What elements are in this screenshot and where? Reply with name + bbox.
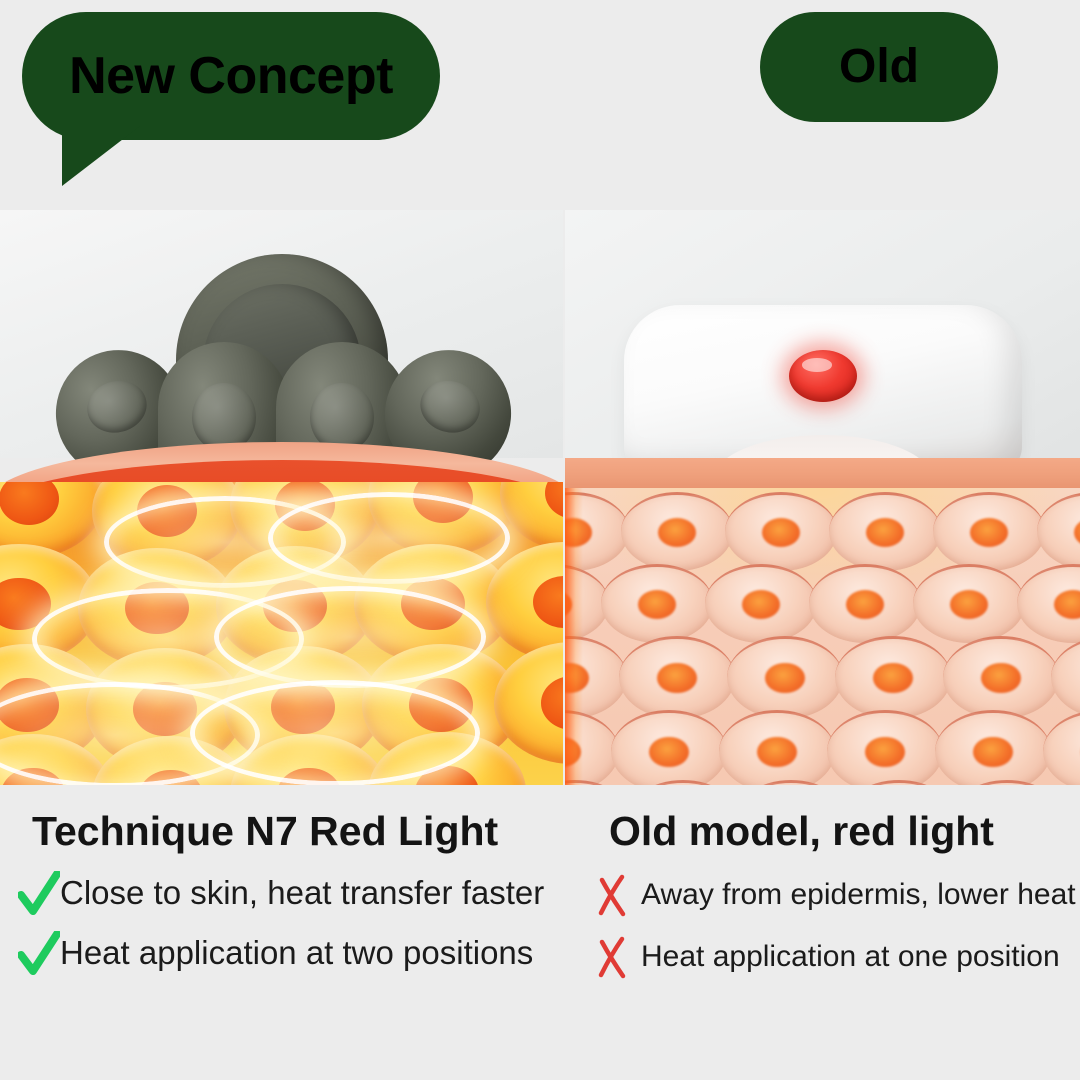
dermis-cells-right xyxy=(565,488,1080,785)
column-old-model: Old model, red light Away from epidermis… xyxy=(565,785,1080,979)
skin-cell xyxy=(913,564,1025,643)
skin-cell xyxy=(809,564,921,643)
check-icon xyxy=(18,931,60,975)
list-item: Heat application at two positions xyxy=(0,931,565,975)
speech-bubble-tail-icon xyxy=(62,126,140,186)
old-label: Old xyxy=(839,43,919,91)
comparison-infographic: New Concept Old xyxy=(0,0,1080,1080)
list-item: Heat application at one position xyxy=(565,935,1080,979)
skin-cell xyxy=(601,564,713,643)
panel-row xyxy=(0,210,1080,785)
epidermis-layer-right xyxy=(565,458,1080,488)
skin-cell xyxy=(727,636,843,719)
left-edge-glow xyxy=(565,488,583,785)
skin-cell xyxy=(621,492,733,571)
check-icon xyxy=(18,871,60,915)
list-item-label: Heat application at two positions xyxy=(60,935,533,971)
dermis-cells-left xyxy=(0,482,563,785)
skin-cell xyxy=(1051,636,1080,719)
list-item-label: Heat application at one position xyxy=(641,940,1060,973)
red-led-icon xyxy=(789,350,857,402)
list-item: Away from epidermis, lower heat xyxy=(565,873,1080,917)
column-new-concept: Technique N7 Red Light Close to skin, he… xyxy=(0,785,565,975)
cross-icon xyxy=(595,873,629,917)
heading-new-concept: Technique N7 Red Light xyxy=(0,809,565,855)
list-item-label: Away from epidermis, lower heat xyxy=(641,878,1076,911)
skin-cell xyxy=(835,636,951,719)
heading-old-model: Old model, red light xyxy=(565,809,1080,855)
skin-cell xyxy=(935,710,1051,785)
heat-glow-ring-icon xyxy=(190,680,480,785)
skin-cell xyxy=(705,564,817,643)
skin-cell xyxy=(827,710,943,785)
old-badge: Old xyxy=(760,12,998,122)
cross-icon xyxy=(595,935,629,979)
new-concept-badge: New Concept xyxy=(22,12,440,140)
skin-cell xyxy=(943,636,1059,719)
skin-cell xyxy=(494,642,563,764)
skin-cell xyxy=(725,492,837,571)
heat-glow-ring-icon xyxy=(214,586,486,688)
skin-cell xyxy=(611,710,727,785)
heat-glow-ring-icon xyxy=(268,492,510,584)
new-concept-label: New Concept xyxy=(69,50,393,102)
panel-old-model xyxy=(565,210,1080,785)
skin-cell xyxy=(1043,710,1080,785)
skin-cell xyxy=(933,492,1045,571)
skin-cell xyxy=(619,636,735,719)
panel-new-concept xyxy=(0,210,563,785)
comparison-text-area: Technique N7 Red Light Close to skin, he… xyxy=(0,785,1080,1080)
list-item-label: Close to skin, heat transfer faster xyxy=(60,875,544,911)
skin-cell xyxy=(829,492,941,571)
skin-cell xyxy=(719,710,835,785)
list-item: Close to skin, heat transfer faster xyxy=(0,871,565,915)
